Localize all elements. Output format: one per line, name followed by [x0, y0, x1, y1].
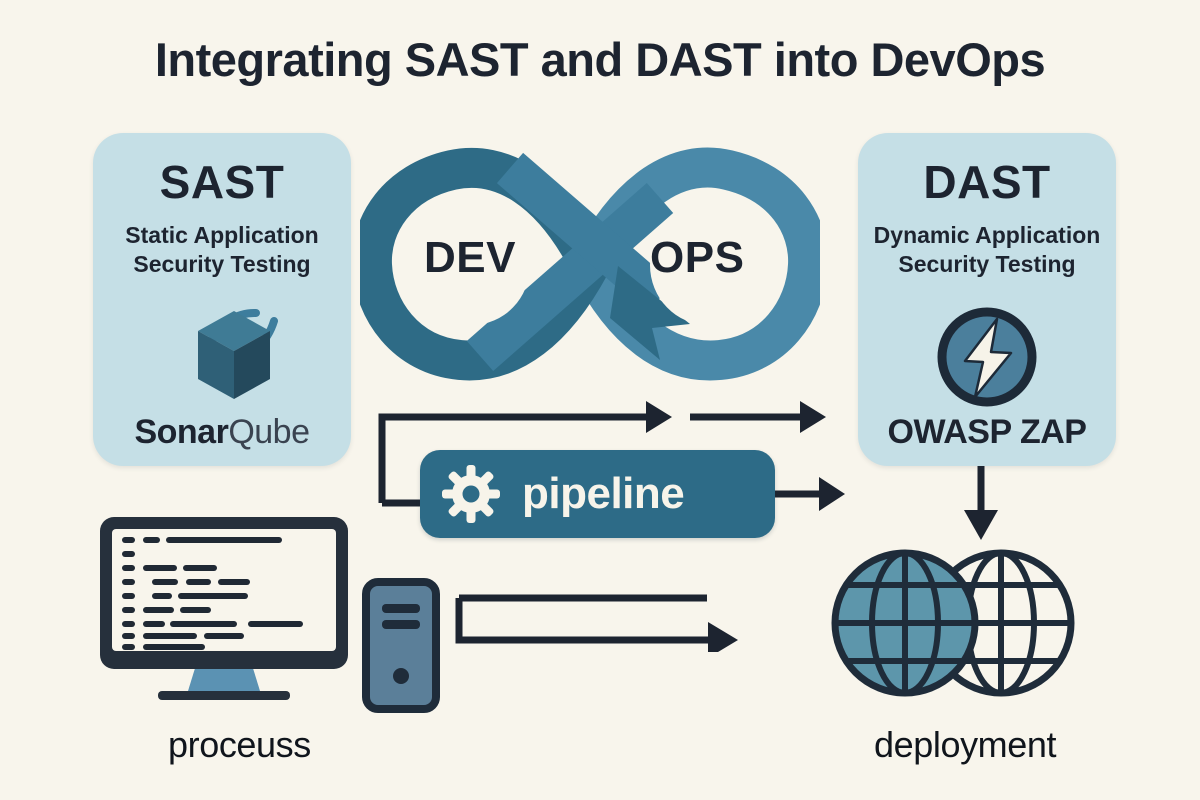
pipeline-label: pipeline — [522, 469, 684, 519]
deployment-label: deployment — [874, 724, 1056, 766]
card-sast-subtitle-line1: Static Application — [97, 221, 347, 250]
sonarqube-primary: Sonar — [134, 413, 228, 451]
card-dast-tool-label: OWASP ZAP — [858, 413, 1116, 452]
devops-infinity-graphic: DEV OPS — [360, 128, 820, 403]
desktop-monitor-code-icon — [98, 515, 350, 715]
card-sast-tool-label: SonarQube — [93, 413, 351, 452]
card-dast-title: DAST — [858, 155, 1116, 209]
process-label: proceuss — [168, 724, 311, 766]
owasp-zap-lightning-icon — [935, 305, 1039, 414]
card-sast-title: SAST — [93, 155, 351, 209]
card-sast-subtitle: Static Application Security Testing — [97, 221, 347, 280]
page-title: Integrating SAST and DAST into DevOps — [0, 32, 1200, 87]
arrow-dast-to-deployment — [960, 466, 1002, 549]
card-sast[interactable]: SAST Static Application Security Testing… — [93, 133, 351, 466]
card-sast-subtitle-line2: Security Testing — [97, 250, 347, 279]
sonarqube-cube-icon — [152, 301, 292, 414]
card-dast[interactable]: DAST Dynamic Application Security Testin… — [858, 133, 1116, 466]
pc-tower-icon — [362, 578, 440, 718]
arrow-pipeline-to-dast — [775, 472, 847, 521]
devops-label-dev: DEV — [424, 233, 516, 283]
diagram-canvas: Integrating SAST and DAST into DevOps SA… — [0, 0, 1200, 800]
devops-label-ops: OPS — [650, 233, 744, 283]
sonarqube-secondary: Qube — [228, 413, 309, 451]
card-dast-subtitle-line1: Dynamic Application — [862, 221, 1112, 250]
pipeline-box[interactable]: pipeline — [420, 450, 775, 538]
card-dast-subtitle-line2: Security Testing — [862, 250, 1112, 279]
two-globes-icon — [805, 545, 1101, 710]
gear-icon — [442, 465, 500, 523]
card-dast-subtitle: Dynamic Application Security Testing — [862, 221, 1112, 280]
arrow-process-to-deployment — [455, 590, 755, 657]
